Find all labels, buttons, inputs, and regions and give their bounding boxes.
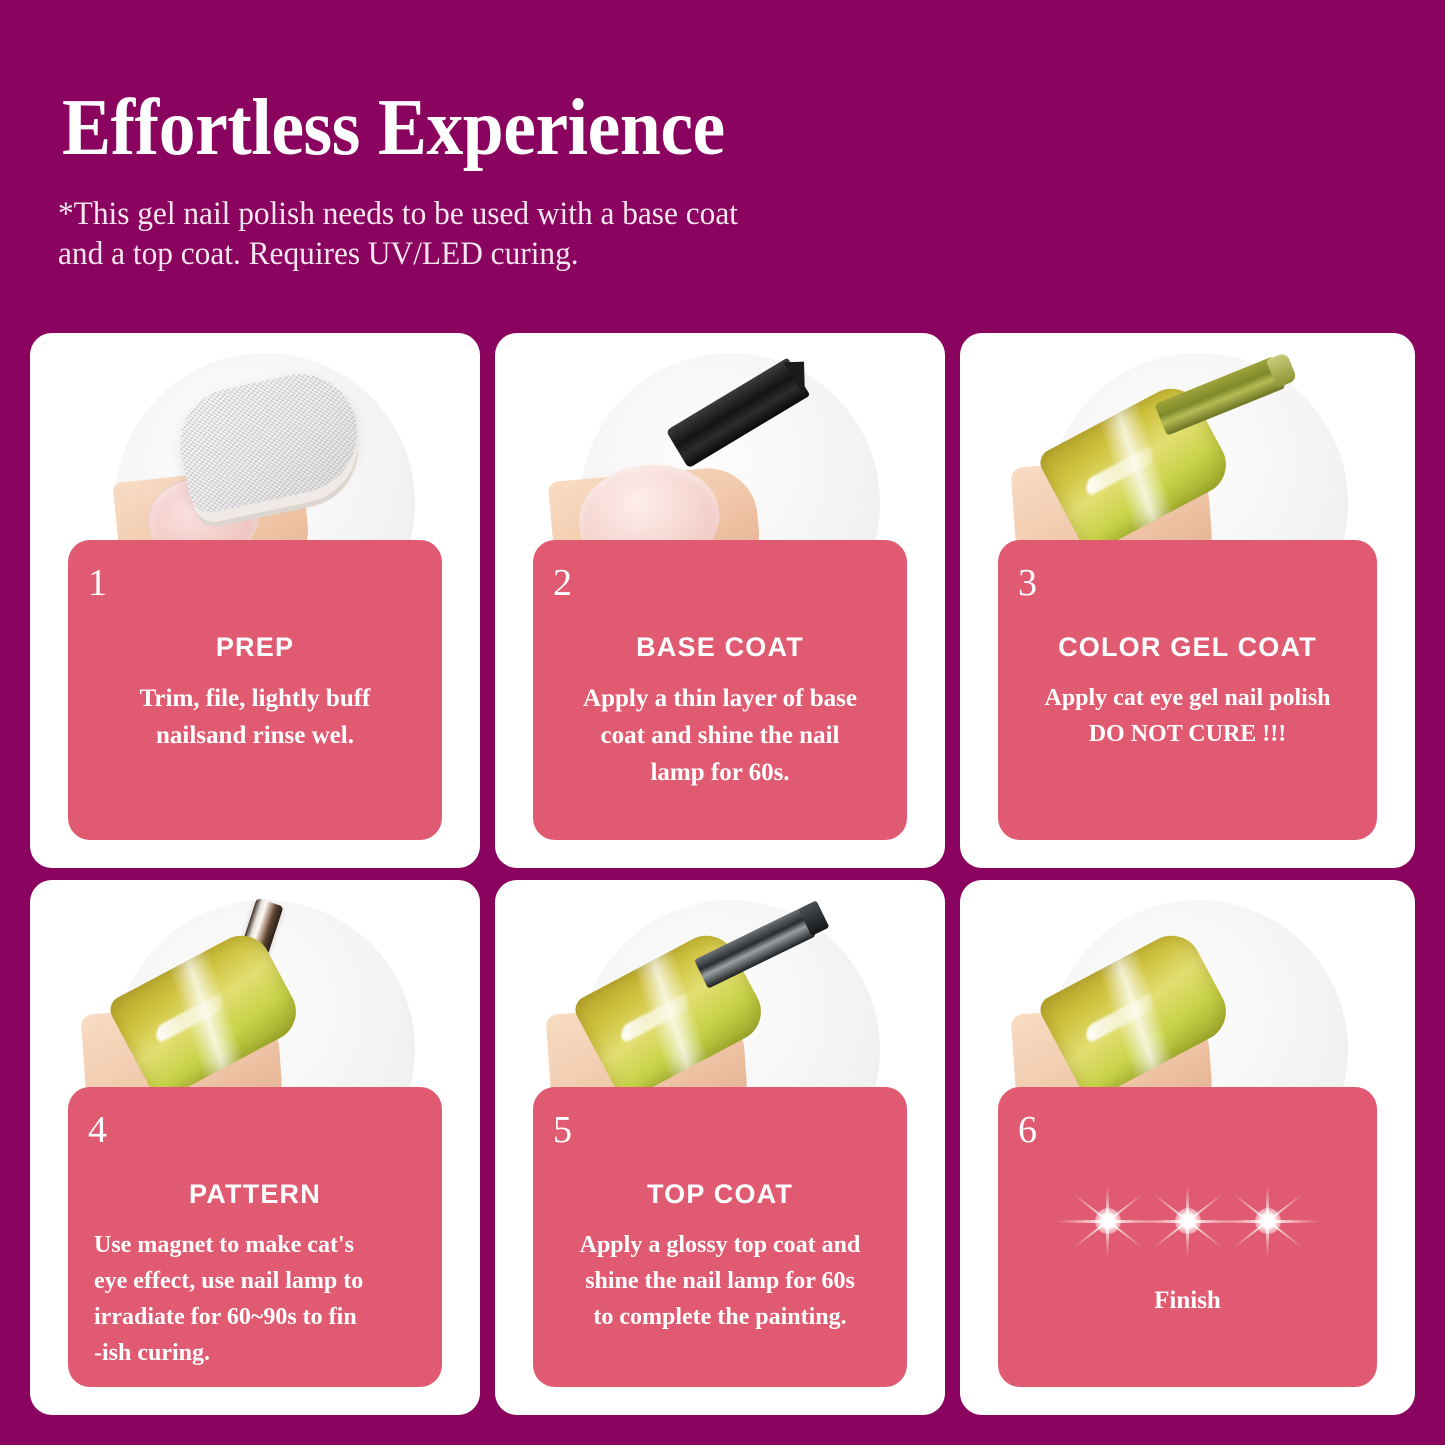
step-card-1: 1 PREP Trim, file, lightly buff nailsand… (30, 333, 480, 868)
step-number: 1 (88, 564, 107, 602)
step-card-4: 4 PATTERN Use magnet to make cat's eye e… (30, 880, 480, 1415)
gel-brush-icon (1154, 356, 1285, 435)
nail-buffer-icon (170, 364, 369, 516)
step-4-panel: 4 PATTERN Use magnet to make cat's eye e… (68, 1087, 442, 1387)
step-title: PATTERN (68, 1179, 442, 1210)
step-description: Apply a glossy top coat and shine the na… (563, 1227, 877, 1335)
step-number: 4 (88, 1111, 107, 1149)
step-description: Use magnet to make cat's eye effect, use… (94, 1227, 422, 1371)
step-title: COLOR GEL COAT (998, 632, 1377, 663)
step-number: 5 (553, 1111, 572, 1149)
step-6-panel: 6 Finish (998, 1087, 1377, 1387)
step-card-2: 2 BASE COAT Apply a thin layer of base c… (495, 333, 945, 868)
step-number: 3 (1018, 564, 1037, 602)
sparkle-icon (1081, 1194, 1135, 1248)
cat-eye-streak (1086, 992, 1153, 1044)
page-subtitle: *This gel nail polish needs to be used w… (58, 194, 738, 274)
step-description: Finish (1028, 1282, 1347, 1319)
page-title: Effortless Experience (62, 84, 725, 172)
cat-eye-streak (621, 992, 688, 1044)
step-card-6: 6 Finish (960, 880, 1415, 1415)
step-title: PREP (68, 632, 442, 663)
step-number: 6 (1018, 1111, 1037, 1149)
cat-eye-streak (156, 992, 223, 1044)
cat-eye-streak (1086, 445, 1153, 497)
header-section: Effortless Experience *This gel nail pol… (0, 0, 1445, 320)
step-description: Trim, file, lightly buff nailsand rinse … (98, 680, 412, 754)
step-1-panel: 1 PREP Trim, file, lightly buff nailsand… (68, 540, 442, 840)
step-2-panel: 2 BASE COAT Apply a thin layer of base c… (533, 540, 907, 840)
step-3-panel: 3 COLOR GEL COAT Apply cat eye gel nail … (998, 540, 1377, 840)
step-card-3: 3 COLOR GEL COAT Apply cat eye gel nail … (960, 333, 1415, 868)
step-description: Apply cat eye gel nail polish DO NOT CUR… (1028, 680, 1347, 752)
sparkle-icon (1161, 1194, 1215, 1248)
step-number: 2 (553, 564, 572, 602)
sparkle-icon (1241, 1194, 1295, 1248)
step-description: Apply a thin layer of base coat and shin… (563, 680, 877, 791)
sparkle-group (998, 1173, 1377, 1269)
step-card-5: 5 TOP COAT Apply a glossy top coat and s… (495, 880, 945, 1415)
polish-brush-icon (666, 358, 810, 469)
step-5-panel: 5 TOP COAT Apply a glossy top coat and s… (533, 1087, 907, 1387)
step-title: BASE COAT (533, 632, 907, 663)
step-title: TOP COAT (533, 1179, 907, 1210)
steps-grid: 1 PREP Trim, file, lightly buff nailsand… (30, 333, 1415, 1415)
